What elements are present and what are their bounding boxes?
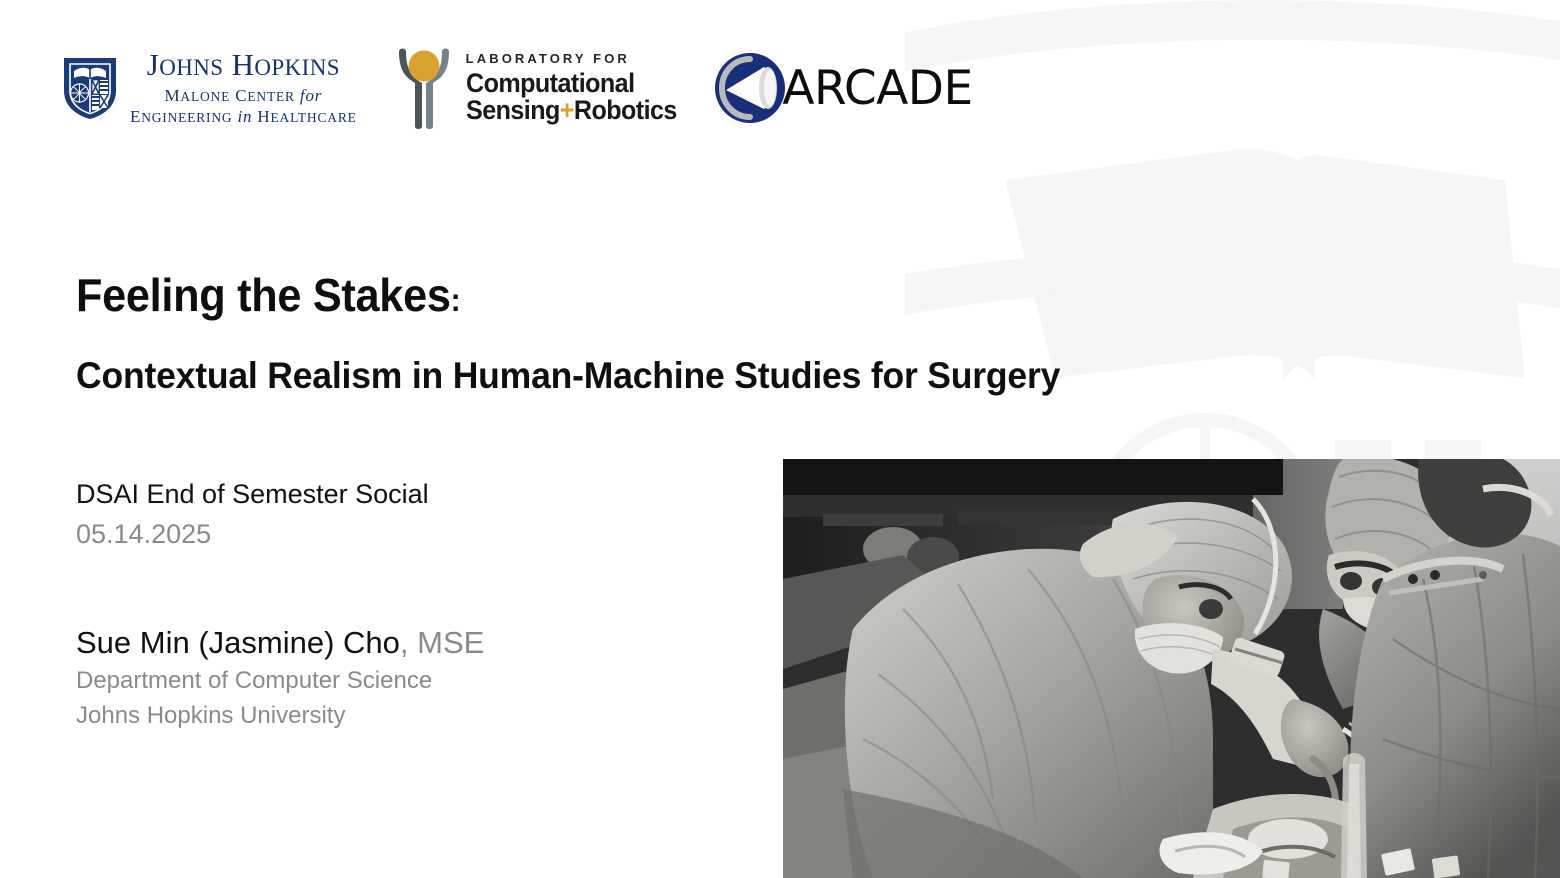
arcade-cone-icon — [712, 50, 788, 126]
page-title-line2: Contextual Realism in Human-Machine Stud… — [76, 355, 1060, 397]
jhu-wordmark-line3: ENGINEERING in HEALTHCARE — [130, 106, 357, 127]
lcsr-logo: LABORATORY FOR Computational Sensing+Rob… — [393, 46, 693, 130]
page-title-colon: : — [451, 282, 461, 318]
author-organization: Johns Hopkins University — [76, 699, 484, 734]
author-name: Sue Min (Jasmine) Cho — [76, 625, 400, 660]
event-name: DSAI End of Semester Social — [76, 475, 429, 515]
arcade-wordmark: ARCADE — [782, 65, 972, 112]
author-name-line: Sue Min (Jasmine) Cho, MSE — [76, 622, 484, 664]
page-title-main: Feeling the Stakes — [76, 269, 451, 321]
lcsr-wordmark: LABORATORY FOR Computational Sensing+Rob… — [466, 52, 693, 123]
jhu-shield-icon — [62, 55, 118, 121]
jhu-wordmark-line1: JOHNS HOPKINS — [147, 49, 340, 82]
lcsr-line2-sensing: Sensing — [466, 95, 560, 125]
author-department: Department of Computer Science — [76, 664, 484, 699]
event-block: DSAI End of Semester Social 05.14.2025 — [76, 475, 429, 555]
logo-bar: JOHNS HOPKINS MALONE CENTER for ENGINEER… — [62, 38, 973, 138]
operating-room-surgery-photo — [783, 459, 1560, 878]
jhu-wordmark: JOHNS HOPKINS MALONE CENTER for ENGINEER… — [130, 49, 357, 127]
page-title-line1: Feeling the Stakes: — [76, 268, 460, 322]
lcsr-line1: Computational — [466, 70, 677, 97]
title-slide: JOHNS HOPKINS MALONE CENTER for ENGINEER… — [0, 0, 1560, 878]
lcsr-line2-robotics: Robotics — [574, 95, 677, 125]
lcsr-line2: Sensing+Robotics — [466, 97, 677, 124]
event-date: 05.14.2025 — [76, 515, 429, 555]
jhu-wordmark-line2: MALONE CENTER for — [164, 85, 322, 106]
lcsr-eyebrow: LABORATORY FOR — [466, 52, 693, 66]
arcade-logo: ARCADE — [712, 50, 972, 126]
hands-wrench-icon — [393, 46, 455, 130]
lcsr-plus-glyph: + — [559, 95, 573, 125]
jhu-malone-center-logo: JOHNS HOPKINS MALONE CENTER for ENGINEER… — [62, 49, 357, 127]
author-block: Sue Min (Jasmine) Cho, MSE Department of… — [76, 622, 484, 733]
author-degree: , MSE — [400, 625, 484, 660]
